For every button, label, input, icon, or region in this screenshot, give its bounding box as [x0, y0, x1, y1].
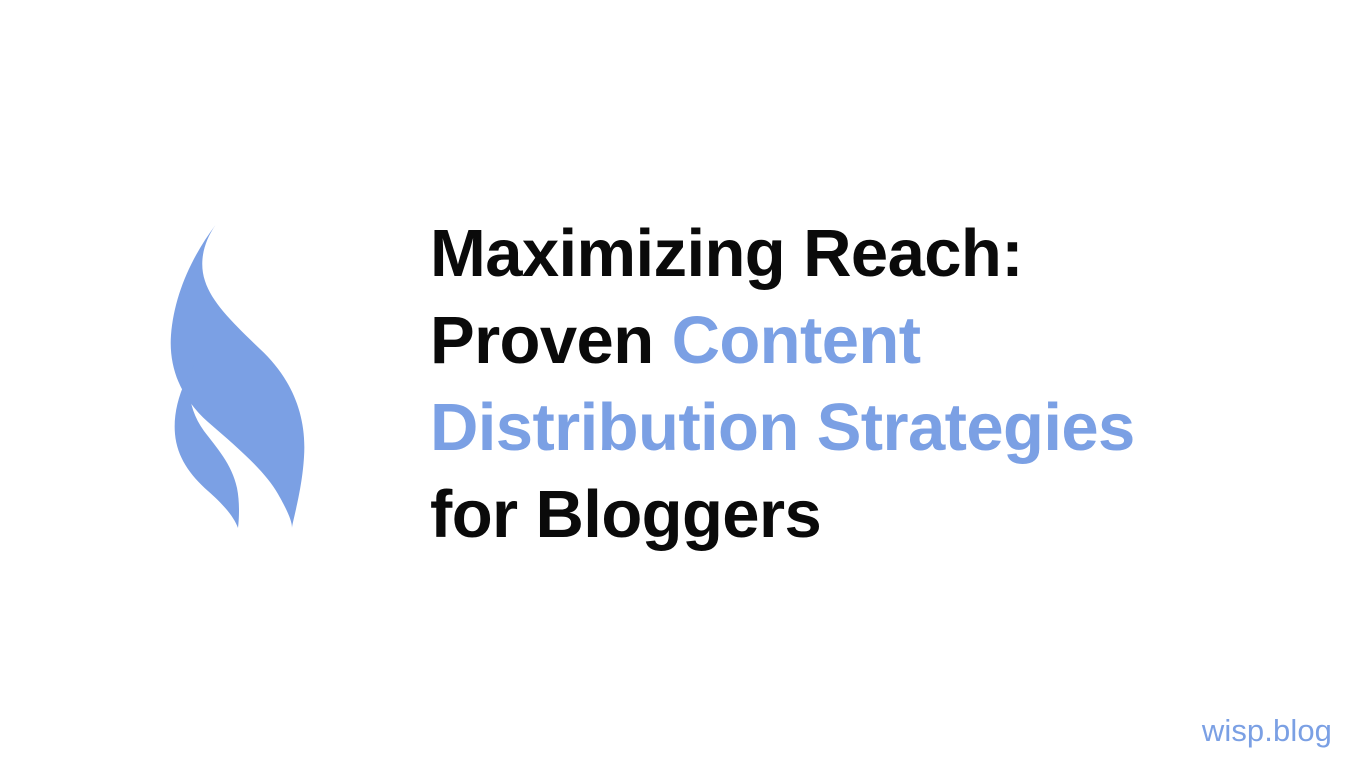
title-line-3-accent: Distribution Strategies: [430, 390, 1135, 465]
title-line-4: for Bloggers: [430, 477, 821, 552]
title-line-2-primary: Proven: [430, 303, 672, 378]
brand-lockup: Maximizing Reach: Proven Content Distrib…: [0, 0, 1366, 768]
wisp-blog-watermark: wisp.blog: [1202, 715, 1332, 746]
title-line-2-accent: Content: [672, 303, 921, 378]
wisp-flame-logo-icon: [168, 223, 308, 533]
title-block: Maximizing Reach: Proven Content Distrib…: [430, 210, 1135, 558]
hero-card: Maximizing Reach: Proven Content Distrib…: [0, 0, 1366, 768]
page-title: Maximizing Reach: Proven Content Distrib…: [430, 210, 1135, 558]
title-line-1: Maximizing Reach:: [430, 216, 1023, 291]
